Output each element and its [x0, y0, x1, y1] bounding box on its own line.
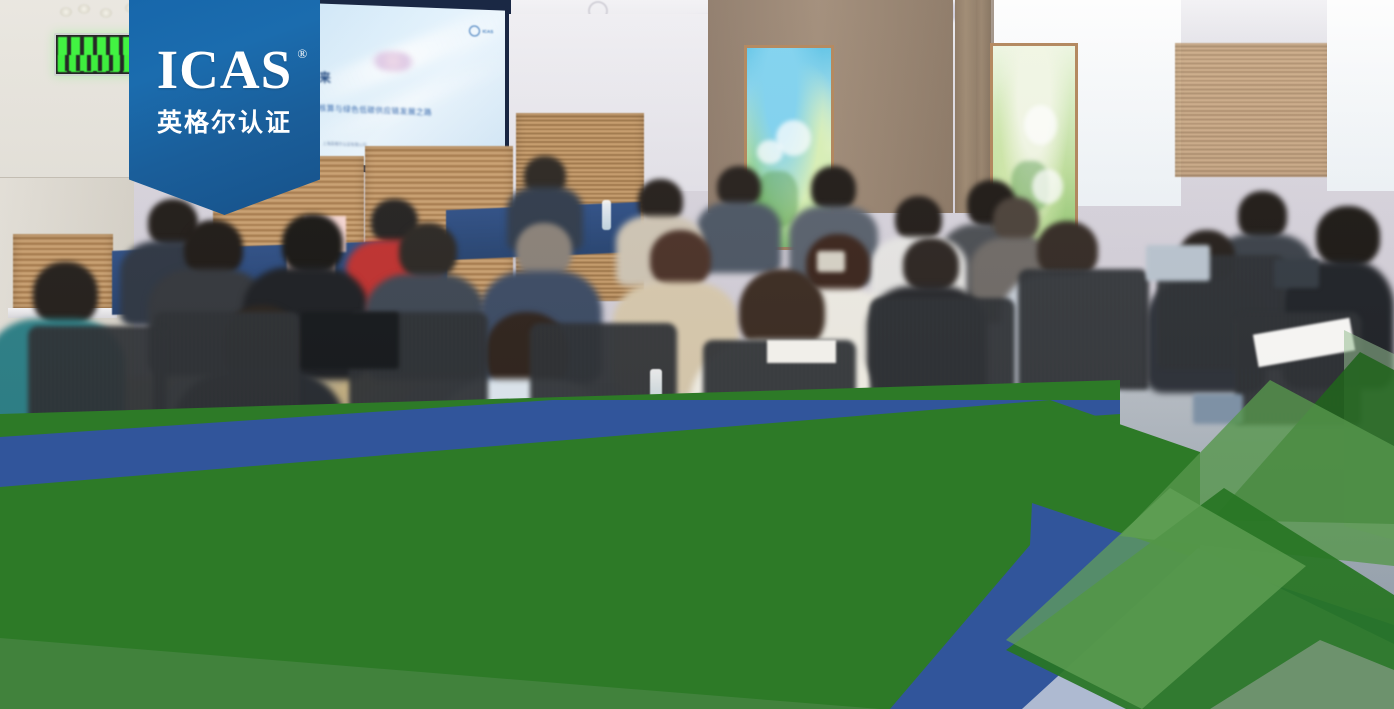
banner-canvas: ICAS 来 核算与绿色低碳供应链发展之路 上海英格尔认证有限公司: [0, 0, 1394, 709]
logo-chinese-name: 英格尔认证: [157, 103, 292, 139]
logo-wordmark: ICAS: [157, 44, 292, 97]
icas-logo-panel: ICAS ® 英格尔认证: [129, 0, 320, 215]
registered-trademark-icon: ®: [297, 46, 307, 62]
logo-lockup: ICAS ® 英格尔认证: [157, 44, 292, 139]
